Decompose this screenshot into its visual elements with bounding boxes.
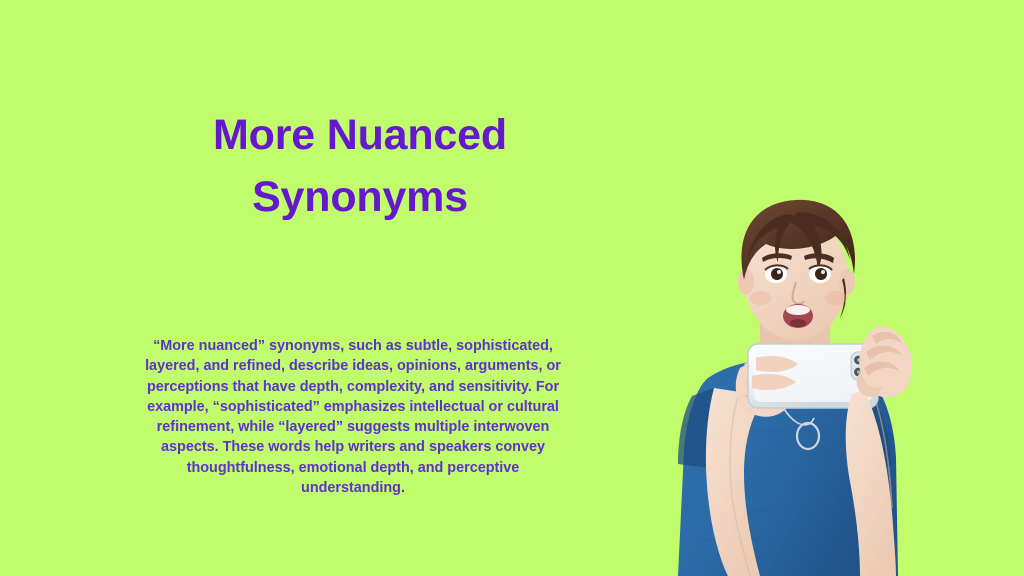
- slide-canvas: More Nuanced Synonyms “More nuanced” syn…: [0, 0, 1024, 576]
- text-column: More Nuanced Synonyms “More nuanced” syn…: [120, 0, 600, 576]
- page-title: More Nuanced Synonyms: [120, 104, 600, 229]
- blush-right: [825, 291, 847, 305]
- blush-left: [749, 291, 771, 305]
- right-hand-raised: [857, 326, 912, 397]
- body-paragraph: “More nuanced” synonyms, such as subtle,…: [134, 336, 572, 498]
- mouth: [783, 304, 813, 328]
- surprised-woman-with-smartphone-photo: [648, 182, 944, 576]
